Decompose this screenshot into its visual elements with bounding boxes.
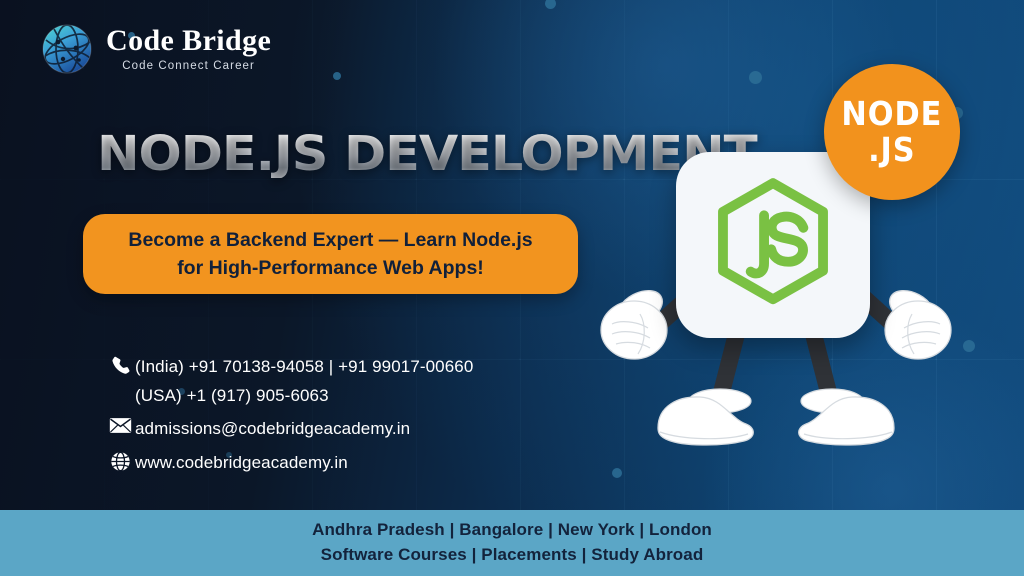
footer-services: Software Courses | Placements | Study Ab… — [321, 543, 704, 568]
badge-line-2: .JS — [868, 132, 915, 168]
envelope-icon — [105, 414, 135, 434]
footer-bar: Andhra Pradesh | Bangalore | New York | … — [0, 510, 1024, 576]
globe-icon — [105, 448, 135, 472]
contact-info: (India) +91 70138-94058 | +91 99017-0066… — [105, 352, 473, 481]
nodejs-badge: NODE .JS — [824, 64, 960, 200]
badge-line-1: NODE — [842, 96, 943, 132]
mesh-node-dot — [612, 468, 622, 478]
left-shoe-icon — [658, 389, 753, 445]
phone-india: (India) +91 70138-94058 | +91 99017-0066… — [135, 352, 473, 381]
globe-network-icon — [40, 22, 94, 76]
website-url: www.codebridgeacademy.in — [135, 448, 348, 477]
contact-row-website[interactable]: www.codebridgeacademy.in — [105, 448, 473, 477]
mesh-node-dot — [333, 72, 341, 80]
right-glove-icon — [884, 283, 951, 359]
promo-banner: Code Bridge Code Connect Career NODE.JS … — [0, 0, 1024, 576]
brand-logo[interactable]: Code Bridge Code Connect Career — [40, 22, 271, 76]
footer-locations: Andhra Pradesh | Bangalore | New York | … — [312, 518, 712, 543]
subtitle-line-1: Become a Backend Expert — Learn Node.js — [128, 226, 532, 254]
mesh-node-dot — [749, 71, 762, 84]
left-glove-icon — [601, 283, 668, 359]
nodejs-hexagon-js-icon — [710, 176, 836, 315]
email-address: admissions@codebridgeacademy.in — [135, 414, 410, 443]
contact-row-email[interactable]: admissions@codebridgeacademy.in — [105, 414, 473, 443]
mesh-node-dot — [963, 340, 975, 352]
right-shoe-icon — [799, 389, 894, 445]
brand-name: Code Bridge — [106, 26, 271, 56]
phone-usa: (USA) +1 (917) 905-6063 — [135, 381, 473, 410]
subtitle-banner: Become a Backend Expert — Learn Node.js … — [83, 214, 578, 294]
brand-tagline: Code Connect Career — [106, 61, 271, 73]
subtitle-line-2: for High-Performance Web Apps! — [177, 254, 484, 282]
contact-row-phone[interactable]: (India) +91 70138-94058 | +91 99017-0066… — [105, 352, 473, 410]
nodejs-logo-card — [676, 152, 870, 338]
phone-icon — [105, 352, 135, 376]
